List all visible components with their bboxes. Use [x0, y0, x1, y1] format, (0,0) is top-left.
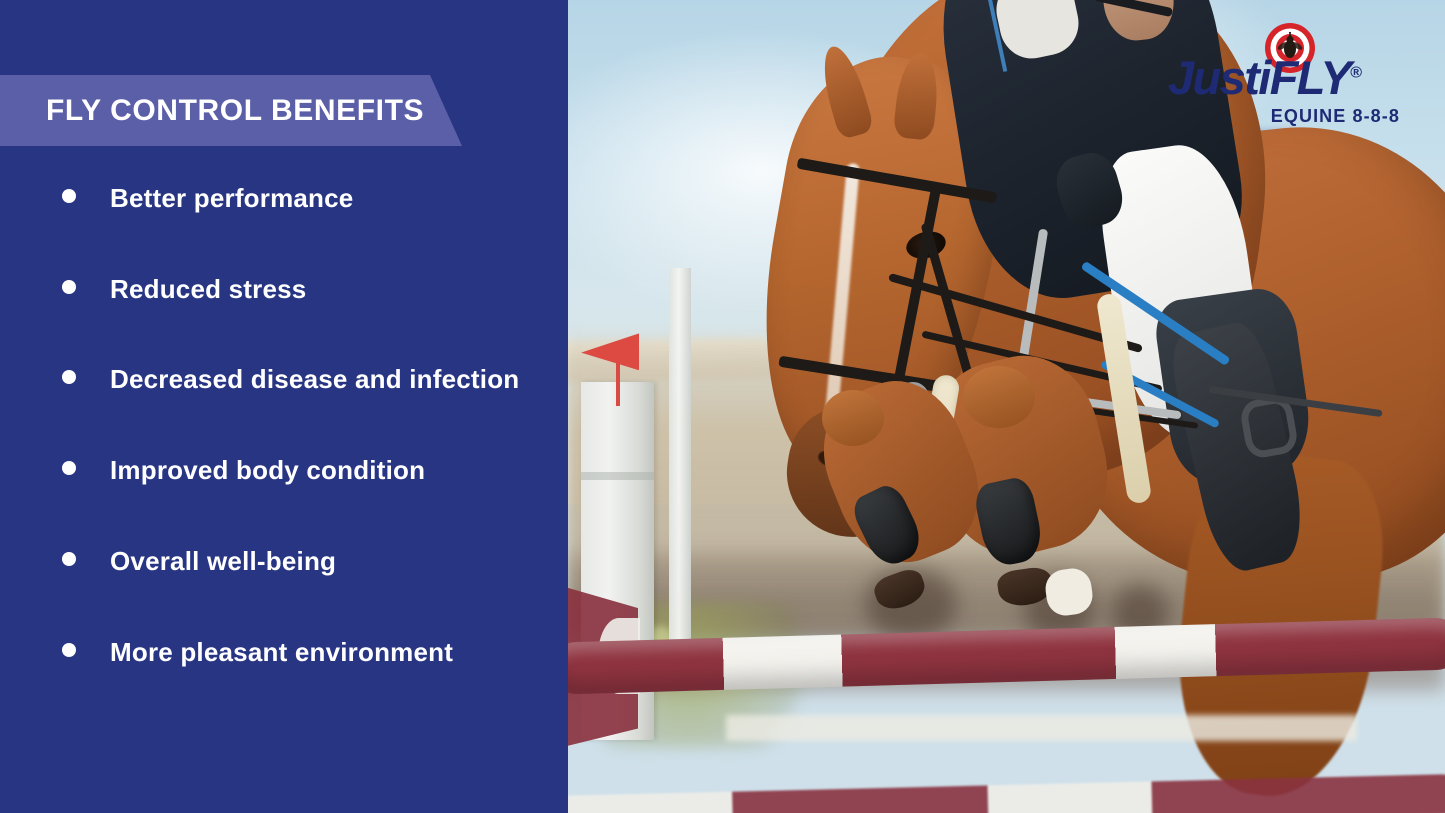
benefits-panel: FLY CONTROL BENEFITS Better performance … — [0, 0, 568, 813]
jump-wing-post — [669, 268, 691, 691]
list-item-label: Better performance — [110, 176, 538, 221]
jump-cup — [581, 472, 654, 480]
jump-rail-secondary — [568, 773, 1445, 813]
list-item: Better performance — [0, 176, 568, 221]
list-item: Decreased disease and infection — [0, 357, 568, 402]
list-item-label: Overall well-being — [110, 539, 538, 584]
bullet-dot-icon — [62, 643, 76, 657]
section-banner: FLY CONTROL BENEFITS — [0, 75, 462, 146]
list-item-label: Decreased disease and infection — [110, 357, 538, 402]
slide-root: JustiFLY® EQUINE 8-8-8 FLY CONTROL BENEF… — [0, 0, 1445, 813]
jump-ledge — [726, 715, 1357, 741]
list-item: More pleasant environment — [0, 630, 568, 675]
list-item-label: Improved body condition — [110, 448, 538, 493]
bullet-dot-icon — [62, 370, 76, 384]
page-title: FLY CONTROL BENEFITS — [46, 94, 424, 128]
registered-trademark-icon: ® — [1350, 64, 1360, 81]
list-item: Improved body condition — [0, 448, 568, 493]
bullet-dot-icon — [62, 552, 76, 566]
list-item-label: Reduced stress — [110, 267, 538, 312]
list-item: Reduced stress — [0, 267, 568, 312]
justifly-logo: JustiFLY® EQUINE 8-8-8 — [1168, 22, 1408, 140]
bullet-dot-icon — [62, 461, 76, 475]
logo-wordmark: JustiFLY® — [1168, 54, 1408, 101]
bullet-dot-icon — [62, 280, 76, 294]
list-item-label: More pleasant environment — [110, 630, 538, 675]
list-item: Overall well-being — [0, 539, 568, 584]
benefits-list: Better performance Reduced stress Decrea… — [0, 176, 568, 720]
logo-wordmark-text: JustiFLY — [1168, 51, 1350, 104]
bullet-dot-icon — [62, 189, 76, 203]
logo-tagline: EQUINE 8-8-8 — [1168, 106, 1400, 127]
horse-knee — [963, 366, 1035, 428]
